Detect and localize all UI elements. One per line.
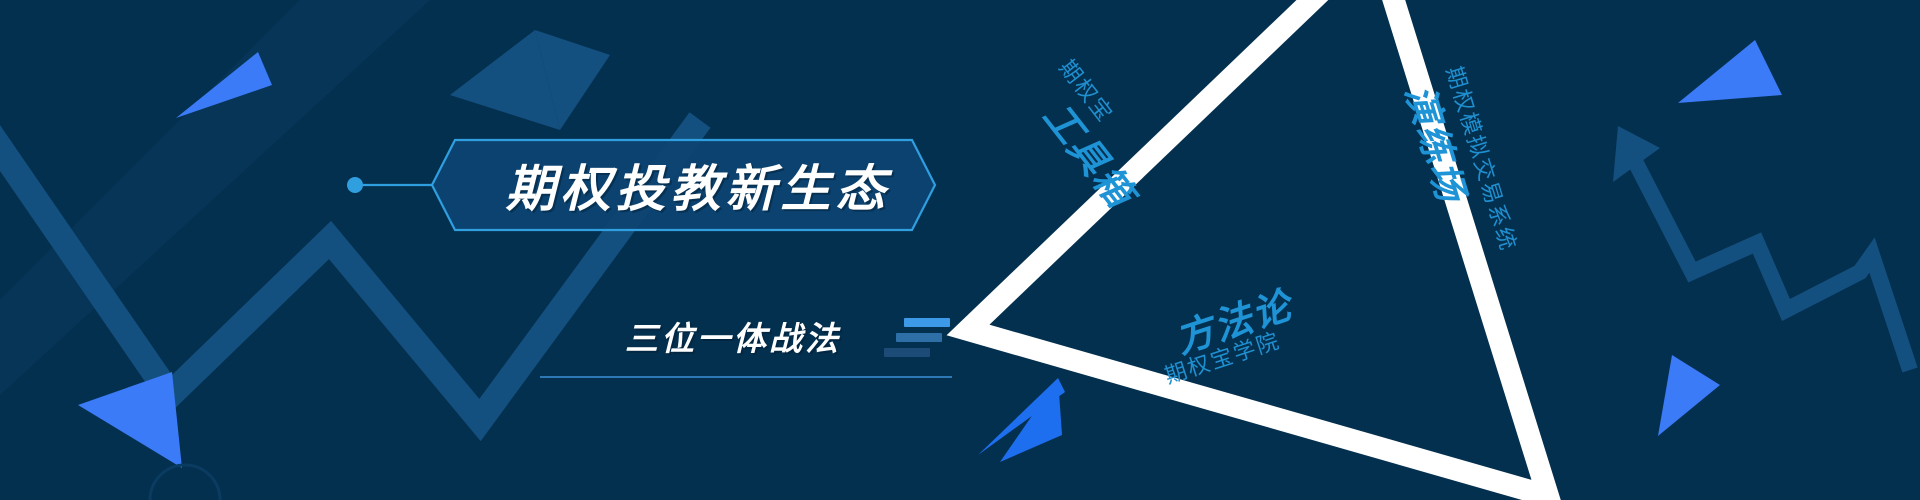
page-title: 期权投教新生态 (455, 140, 935, 230)
promo-banner: 期权投教新生态 三位一体战法 期权宝 工具箱 期权模拟交易系统 演练场 方法论 … (0, 0, 1920, 500)
bar-2 (896, 333, 942, 342)
subtitle-divider (540, 376, 952, 378)
bar-1 (904, 318, 950, 327)
three-bars-icon (878, 318, 950, 360)
title-block: 期权投教新生态 (455, 140, 935, 230)
subtitle-block: 三位一体战法 (540, 312, 970, 392)
title-frame (0, 0, 1920, 500)
title-connector-dot (347, 177, 363, 193)
subtitle: 三位一体战法 (625, 312, 841, 360)
bar-3 (884, 348, 930, 357)
